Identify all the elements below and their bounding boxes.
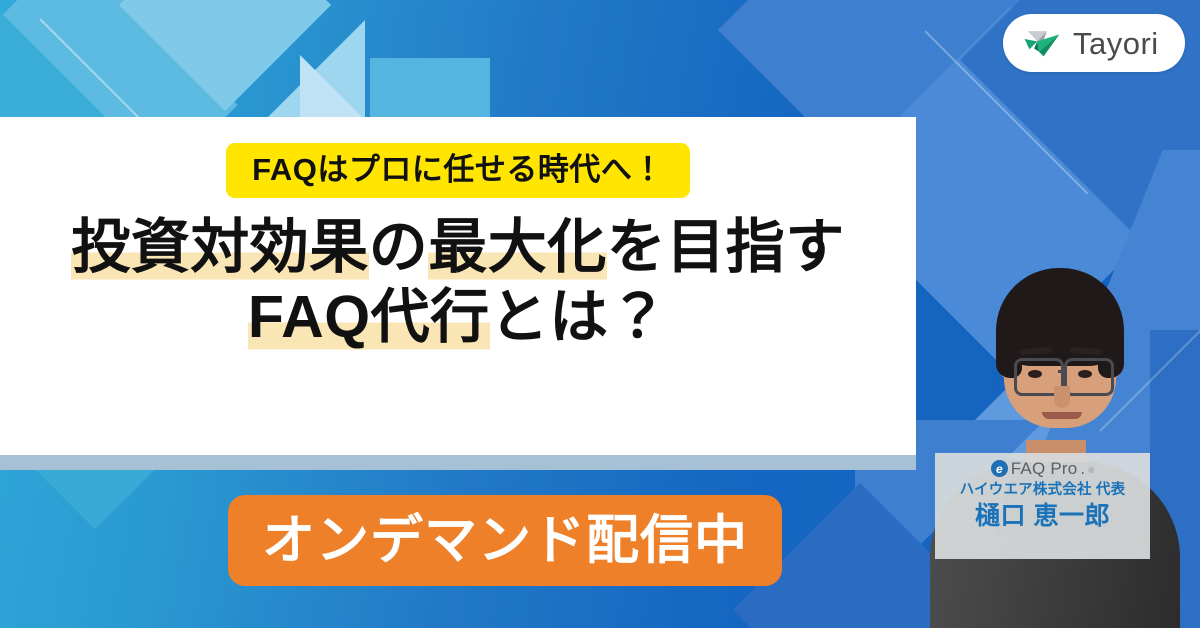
speaker-name: 樋口 恵一郎: [975, 504, 1110, 529]
headline-highlight-3: FAQ代行: [248, 284, 490, 350]
paper-plane-envelope-icon: [1023, 28, 1061, 58]
portrait-glasses-bridge: [1058, 370, 1066, 373]
eyebrow-badge: FAQはプロに任せる時代へ！: [226, 143, 690, 198]
headline-highlight-1: 投資対効果: [71, 214, 369, 280]
faq-pro-logo-mark-icon: e: [991, 460, 1008, 477]
webinar-promo-banner: e FAQ Pro . ® ハイウエア株式会社 代表 樋口 恵一郎 FAQはプロ…: [0, 0, 1200, 628]
headline-line-1: 投資対効果の最大化を目指す: [71, 214, 845, 280]
on-demand-cta-button[interactable]: オンデマンド配信中: [228, 495, 782, 586]
headline-card: FAQはプロに任せる時代へ！ 投資対効果の最大化を目指す FAQ代行とは？: [0, 117, 916, 455]
registered-trademark-icon: ®: [1088, 467, 1094, 477]
portrait-mouth: [1042, 412, 1082, 419]
tayori-brand-logo[interactable]: Tayori: [1003, 14, 1185, 72]
portrait-nose: [1054, 386, 1070, 408]
headline-text-1: の: [369, 214, 429, 280]
tayori-logo-text: Tayori: [1073, 28, 1159, 59]
faq-pro-logo-dot: .: [1080, 460, 1085, 477]
speaker-company-title: ハイウエア株式会社 代表: [960, 483, 1126, 498]
headline-text-3: とは？: [490, 284, 669, 350]
headline-line-2: FAQ代行とは？: [71, 284, 845, 350]
page-title: 投資対効果の最大化を目指す FAQ代行とは？: [71, 214, 845, 350]
faq-pro-logo-text: FAQ Pro: [1011, 460, 1078, 477]
speaker-portrait-photo: [908, 190, 1200, 628]
portrait-glasses-lens-right: [1064, 358, 1114, 396]
headline-text-2: を目指す: [607, 214, 845, 280]
headline-highlight-2: 最大化: [428, 214, 607, 280]
faq-pro-logo: e FAQ Pro . ®: [991, 460, 1094, 477]
speaker-name-plate: e FAQ Pro . ® ハイウエア株式会社 代表 樋口 恵一郎: [935, 453, 1150, 559]
